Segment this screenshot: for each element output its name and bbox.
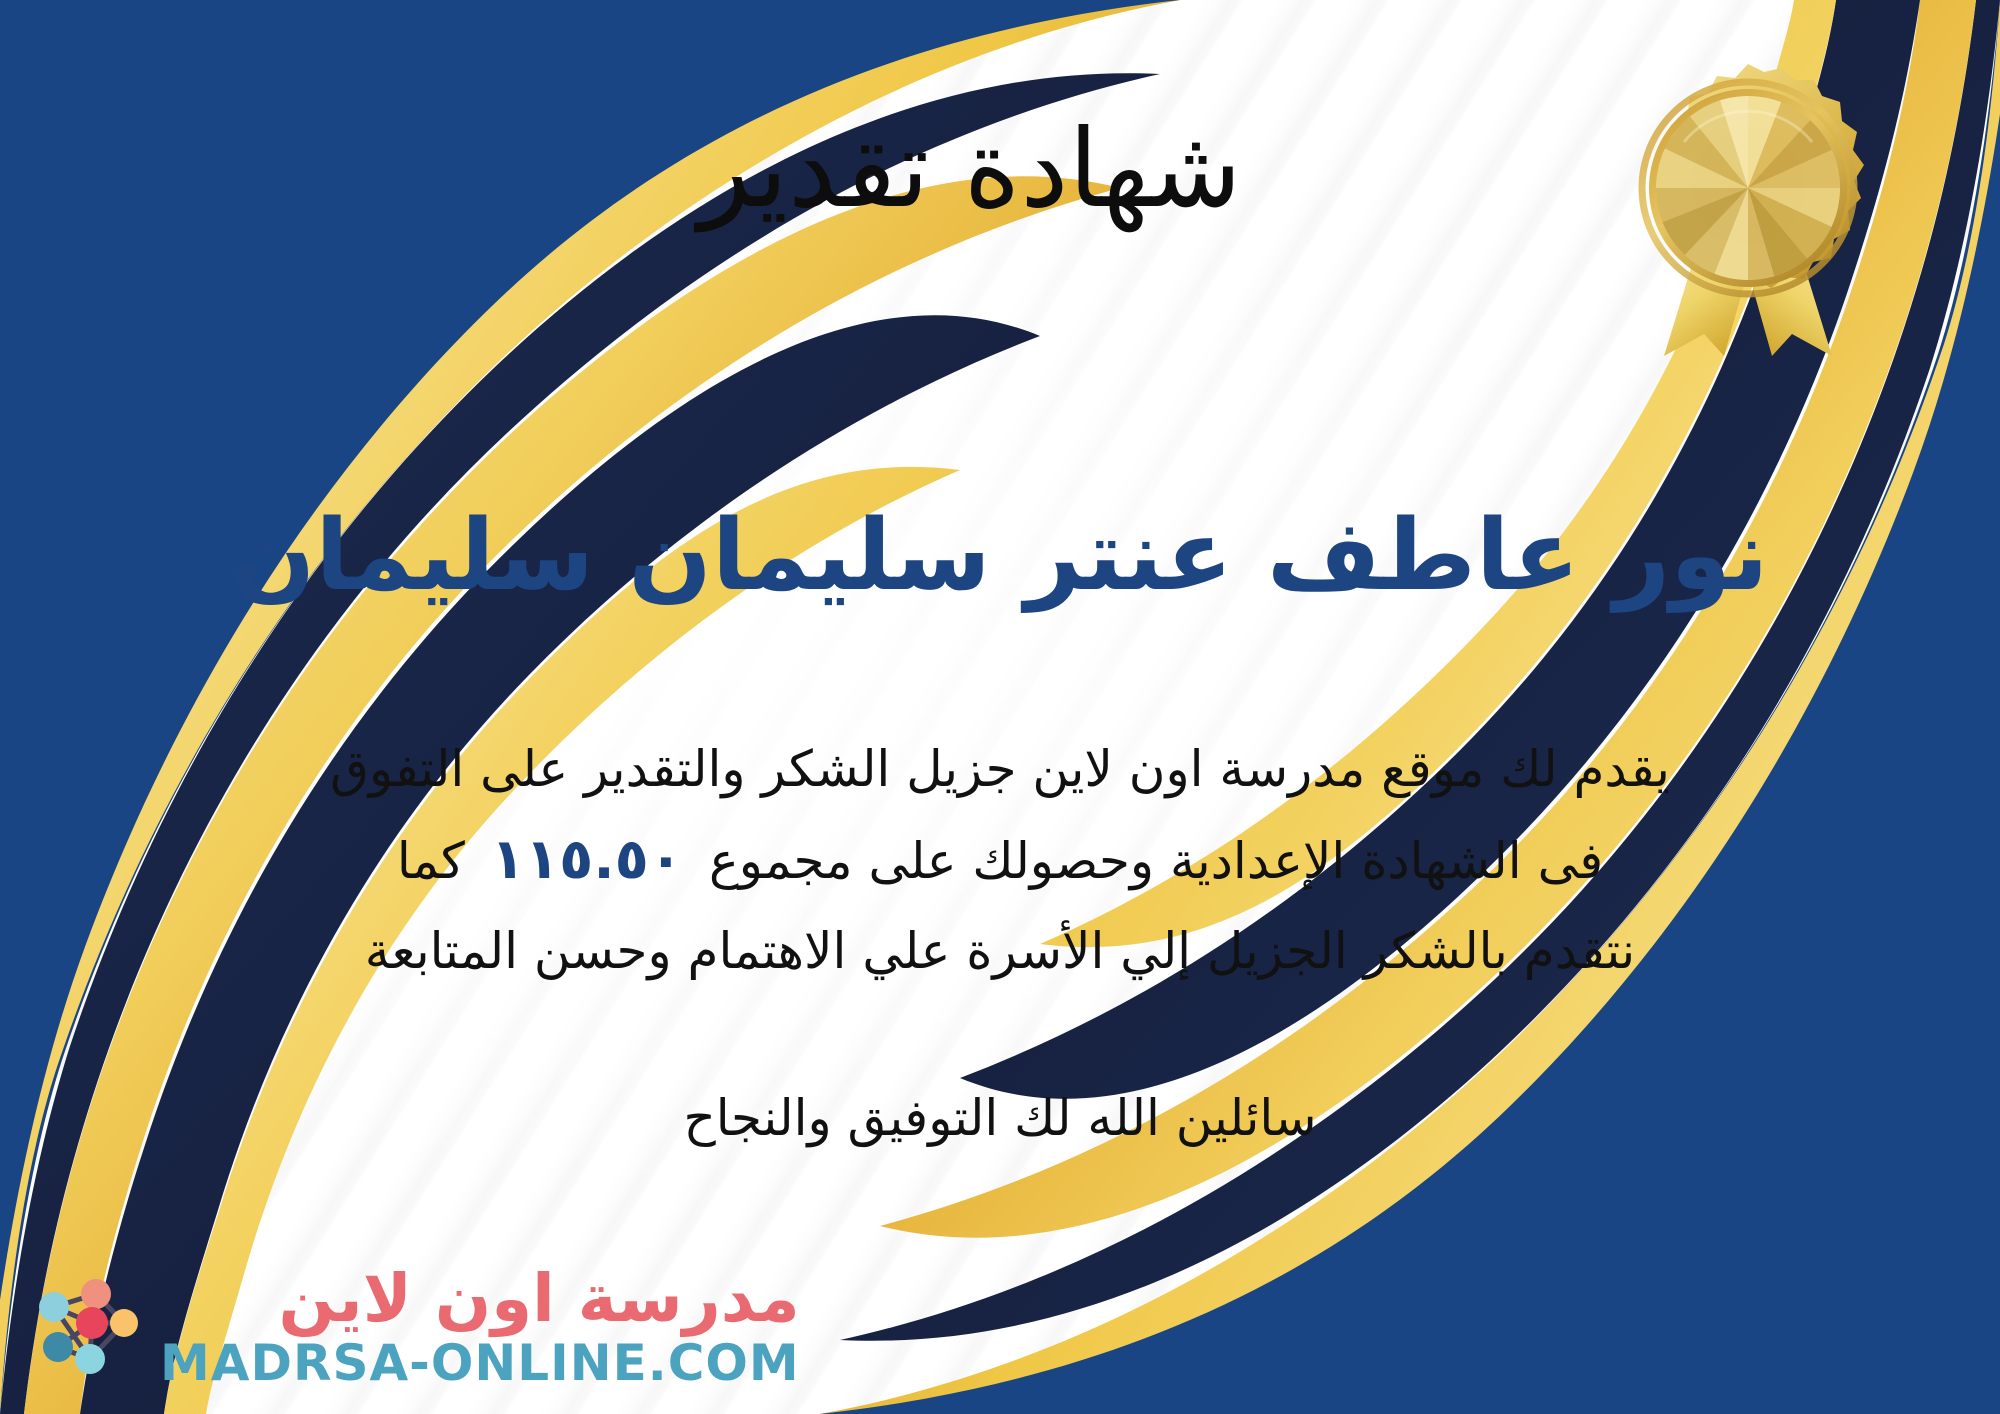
network-nodes-icon: [26, 1267, 146, 1387]
certificate-body: يقدم لك موقع مدرسة اون لاين جزيل الشكر و…: [80, 726, 1920, 994]
brand-arabic-name: مدرسة اون لاين: [279, 1266, 800, 1332]
brand-text: مدرسة اون لاين MADRSA-ONLINE.COM: [160, 1266, 800, 1388]
node-cyan: [75, 1344, 105, 1374]
total-score-value: ١١٥.٥٠: [465, 827, 709, 892]
node-light-blue: [39, 1292, 69, 1322]
certificate-content: شهادة تقدير نور عاطف عنتر سليمان سليمان …: [0, 0, 2000, 1414]
page-title: شهادة تقدير: [0, 108, 2000, 232]
node-amber: [110, 1309, 138, 1337]
closing-blessing: سائلين الله لك التوفيق والنجاح: [0, 1078, 2000, 1158]
node-salmon: [81, 1279, 111, 1309]
recipient-name: نور عاطف عنتر سليمان سليمان: [0, 498, 2000, 616]
body-line-2-suffix: كما: [397, 832, 465, 890]
body-line-2-prefix: فى الشهادة الإعدادية وحصولك على مجموع: [709, 832, 1603, 890]
body-line-1: يقدم لك موقع مدرسة اون لاين جزيل الشكر و…: [80, 726, 1920, 812]
brand-logo[interactable]: مدرسة اون لاين MADRSA-ONLINE.COM: [26, 1266, 800, 1388]
brand-website[interactable]: MADRSA-ONLINE.COM: [160, 1338, 800, 1388]
body-line-3: نتقدم بالشكر الجزيل إلي الأسرة علي الاهت…: [80, 908, 1920, 994]
node-dark-teal: [43, 1332, 73, 1362]
body-line-2: فى الشهادة الإعدادية وحصولك على مجموع١١٥…: [80, 812, 1920, 908]
certificate-page: شهادة تقدير نور عاطف عنتر سليمان سليمان …: [0, 0, 2000, 1414]
node-red: [76, 1307, 108, 1339]
